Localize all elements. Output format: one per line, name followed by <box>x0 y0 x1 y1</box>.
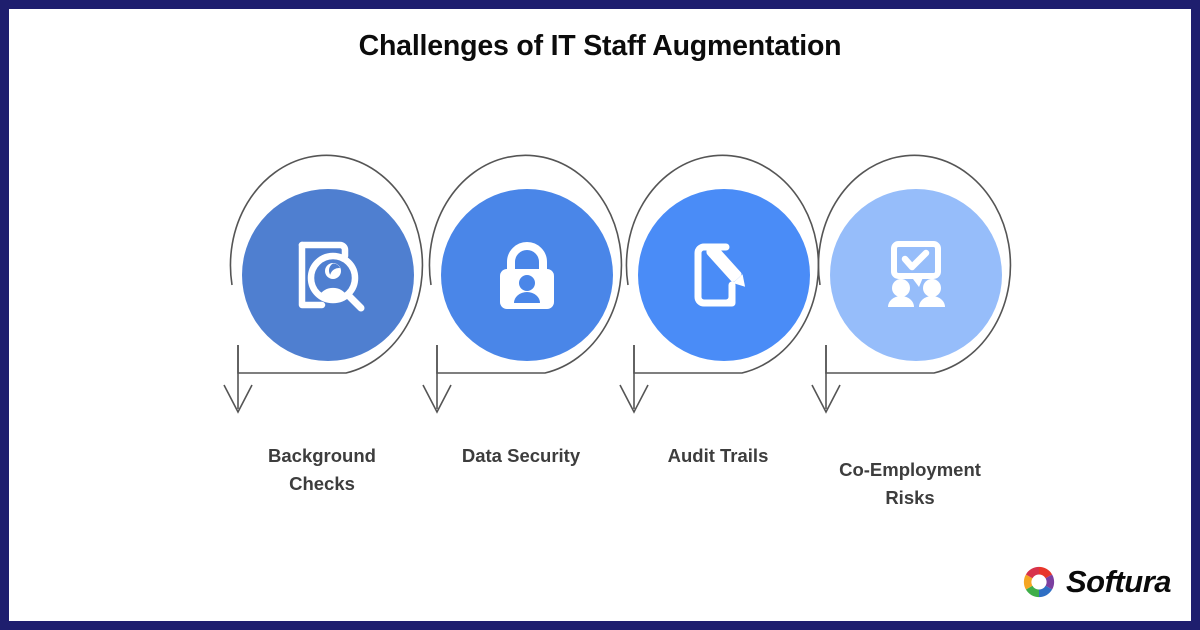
step-icon-circle-2 <box>638 189 810 361</box>
padlock-person-icon <box>483 231 571 319</box>
step-background-checks[interactable]: Background Checks <box>216 169 428 509</box>
step-label-0-line2: Checks <box>202 470 442 498</box>
step-data-security[interactable]: Data Security <box>415 169 627 509</box>
softura-logo[interactable]: Softura <box>1021 564 1171 600</box>
step-label-3: Co-Employment Risks <box>790 456 1030 512</box>
softura-wordmark: Softura <box>1066 564 1171 600</box>
step-icon-circle-1 <box>441 189 613 361</box>
step-co-employment-risks[interactable]: Co-Employment Risks <box>804 169 1016 509</box>
steps-row: Background Checks <box>9 9 1191 621</box>
step-label-3-line1: Co-Employment <box>790 456 1030 484</box>
step-label-3-line2: Risks <box>790 484 1030 512</box>
document-pen-edit-icon <box>680 231 768 319</box>
softura-swirl-icon <box>1021 564 1057 600</box>
infographic-inner: Challenges of IT Staff Augmentation <box>9 9 1191 621</box>
infographic-canvas: Challenges of IT Staff Augmentation <box>0 0 1200 630</box>
document-person-search-icon <box>282 229 374 321</box>
step-icon-circle-0 <box>242 189 414 361</box>
speech-bubble-check-people-icon <box>872 231 960 319</box>
step-icon-circle-3 <box>830 189 1002 361</box>
